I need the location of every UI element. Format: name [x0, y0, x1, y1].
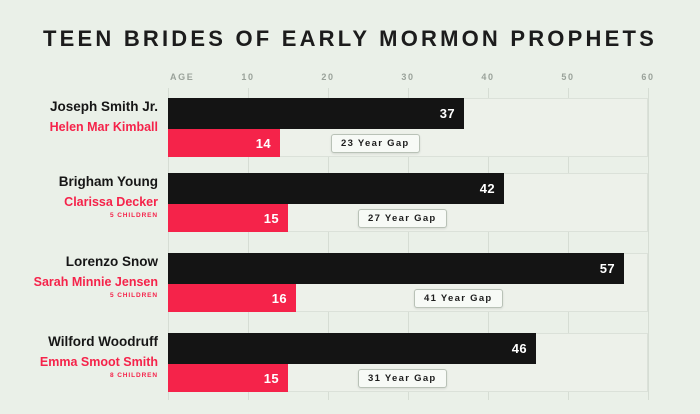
group-1-names: Joseph Smith Jr. Helen Mar Kimball: [0, 98, 158, 135]
bride-name-4: Emma Smoot Smith: [0, 354, 158, 370]
prophet-age-3: 57: [600, 261, 624, 276]
infographic-chart: TEEN BRIDES OF EARLY MORMON PROPHETS AGE…: [0, 0, 700, 414]
bar-prophet-1: 37: [168, 98, 464, 129]
bar-prophet-3: 57: [168, 253, 624, 284]
gap-label-3: 41 Year Gap: [414, 289, 503, 308]
prophet-age-4: 46: [512, 341, 536, 356]
bar-prophet-4: 46: [168, 333, 536, 364]
bar-prophet-2: 42: [168, 173, 504, 204]
group-2-names: Brigham Young Clarissa Decker 5 CHILDREN: [0, 173, 158, 220]
axis-label-age: AGE: [170, 72, 194, 82]
bar-bride-1: 14: [168, 129, 280, 157]
children-count-3: 5 CHILDREN: [0, 291, 158, 300]
bar-bride-3: 16: [168, 284, 296, 312]
axis-tick-20: 20: [321, 72, 334, 82]
gap-label-4: 31 Year Gap: [358, 369, 447, 388]
axis-tick-40: 40: [481, 72, 494, 82]
bride-name-2: Clarissa Decker: [0, 194, 158, 210]
prophet-name-3: Lorenzo Snow: [0, 253, 158, 270]
bride-name-3: Sarah Minnie Jensen: [0, 274, 158, 290]
gap-label-1: 23 Year Gap: [331, 134, 420, 153]
bride-age-3: 16: [272, 291, 296, 306]
page-title: TEEN BRIDES OF EARLY MORMON PROPHETS: [0, 26, 700, 52]
prophet-age-2: 42: [480, 181, 504, 196]
axis-tick-30: 30: [401, 72, 414, 82]
children-count-4: 8 CHILDREN: [0, 371, 158, 380]
bar-bride-2: 15: [168, 204, 288, 232]
bride-age-4: 15: [264, 371, 288, 386]
group-4-names: Wilford Woodruff Emma Smoot Smith 8 CHIL…: [0, 333, 158, 380]
bride-name-1: Helen Mar Kimball: [0, 119, 158, 135]
prophet-age-1: 37: [440, 106, 464, 121]
axis-tick-10: 10: [241, 72, 254, 82]
bride-age-1: 14: [256, 136, 280, 151]
bar-bride-4: 15: [168, 364, 288, 392]
prophet-name-1: Joseph Smith Jr.: [0, 98, 158, 115]
bride-age-2: 15: [264, 211, 288, 226]
prophet-name-2: Brigham Young: [0, 173, 158, 190]
axis-tick-60: 60: [641, 72, 654, 82]
group-3-names: Lorenzo Snow Sarah Minnie Jensen 5 CHILD…: [0, 253, 158, 300]
axis-tick-50: 50: [561, 72, 574, 82]
gridline-60: [648, 88, 649, 400]
gap-label-2: 27 Year Gap: [358, 209, 447, 228]
children-count-2: 5 CHILDREN: [0, 211, 158, 220]
prophet-name-4: Wilford Woodruff: [0, 333, 158, 350]
